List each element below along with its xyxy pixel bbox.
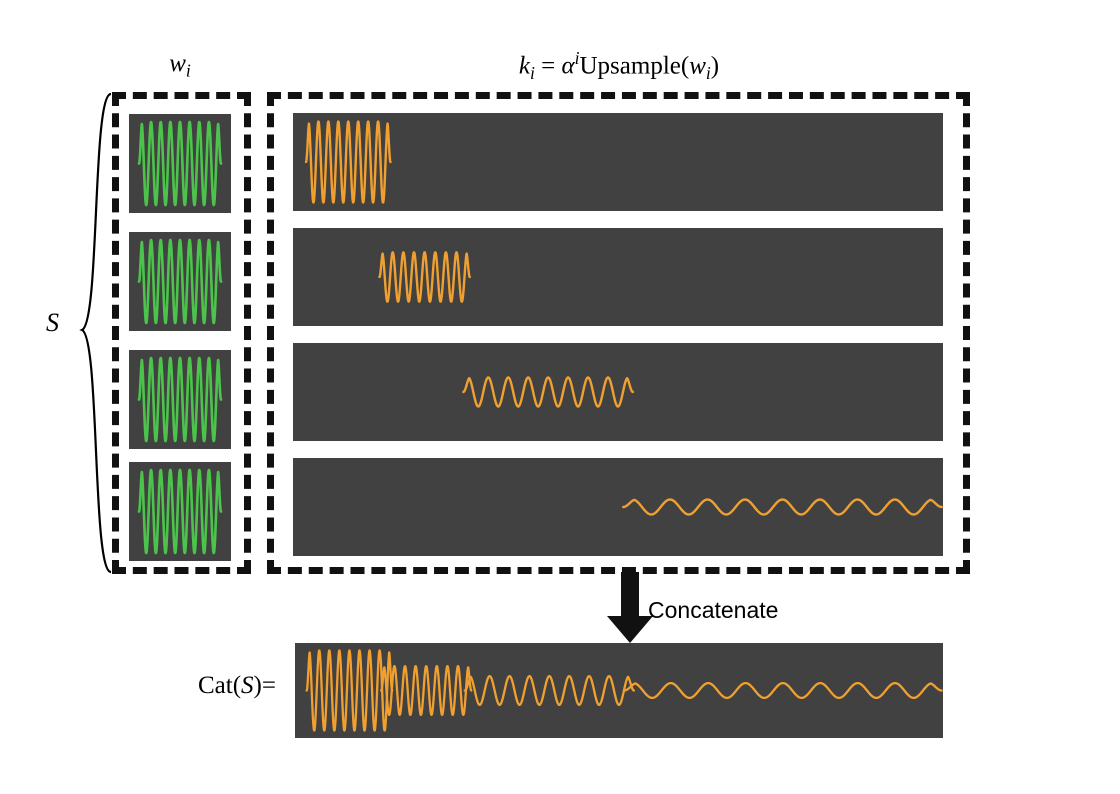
source-wavelet-thumbnail	[129, 350, 231, 449]
scaled-kernel-row	[293, 458, 943, 556]
scaled-kernel-row	[293, 113, 943, 211]
concatenate-label: Concatenate	[648, 597, 778, 624]
scaled-kernel-row	[293, 228, 943, 326]
source-wavelet-thumbnail	[129, 232, 231, 331]
cat-label: Cat(S)=	[198, 672, 276, 700]
set-label: S	[46, 308, 59, 338]
w-label: wi	[129, 50, 231, 81]
source-wavelet-thumbnail	[129, 114, 231, 213]
figure-canvas: S wi ki = αiUpsample(wi) Concatenate Cat…	[0, 0, 1120, 794]
k-formula-label: ki = αiUpsample(wi)	[293, 48, 945, 84]
scaled-kernel-row	[293, 343, 943, 441]
source-wavelet-thumbnail	[129, 462, 231, 561]
set-brace	[78, 92, 112, 574]
concatenated-output-panel	[295, 643, 943, 738]
